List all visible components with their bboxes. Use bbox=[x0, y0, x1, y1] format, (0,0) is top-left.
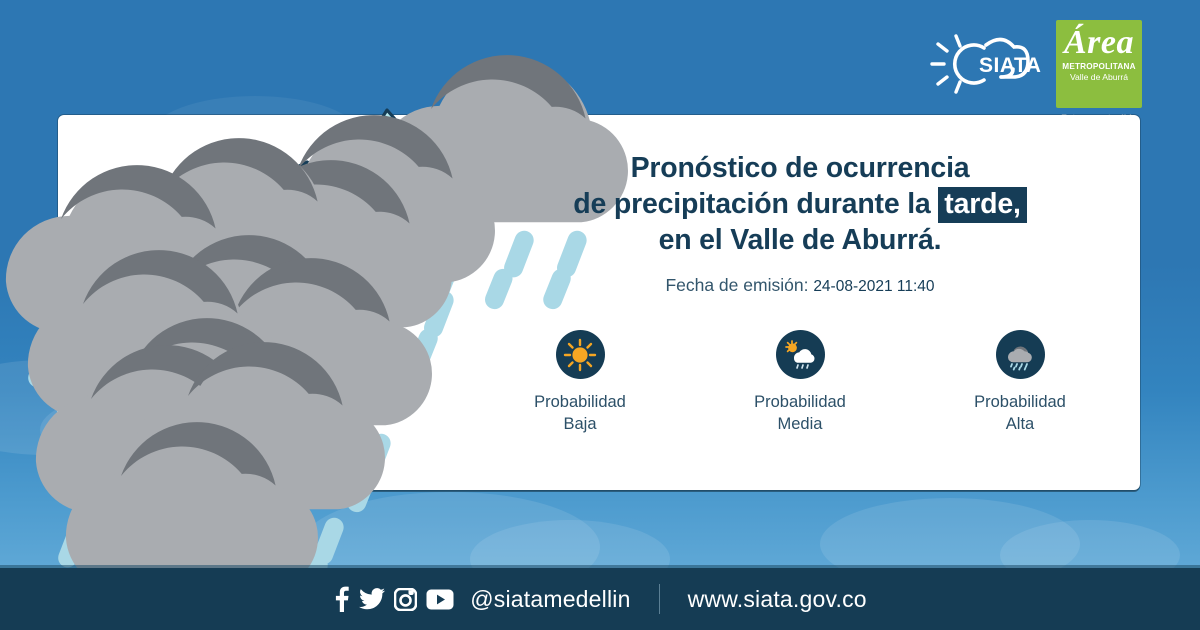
legend-label-baja: Probabilidad Baja bbox=[493, 391, 668, 435]
forecast-poster: SIATA Área METROPOLITANA Valle de Aburrá… bbox=[0, 0, 1200, 630]
footer-divider bbox=[659, 584, 660, 614]
title-line-2-text: de precipitación durante la bbox=[573, 188, 938, 220]
title-highlight: tarde, bbox=[938, 187, 1026, 223]
headline-block: Pronóstico de ocurrencia de precipitació… bbox=[470, 150, 1130, 296]
legend-baja-line1: Probabilidad bbox=[493, 391, 668, 413]
valle-de-aburra-map: N bbox=[55, 50, 415, 570]
sun-rain-cloud-icon bbox=[776, 330, 825, 379]
title-line-1: Pronóstico de ocurrencia bbox=[470, 150, 1130, 186]
website-url[interactable]: www.siata.gov.co bbox=[688, 586, 867, 613]
siata-logo-text: SIATA bbox=[979, 54, 1041, 77]
siata-logo: SIATA bbox=[922, 27, 1042, 101]
youtube-icon[interactable] bbox=[426, 589, 454, 610]
legend-item-alta: Probabilidad Alta bbox=[933, 330, 1108, 435]
amva-script: Área bbox=[1064, 24, 1134, 62]
twitter-icon[interactable] bbox=[359, 588, 385, 610]
legend-label-alta: Probabilidad Alta bbox=[933, 391, 1108, 435]
legend-media-line2: Media bbox=[713, 413, 888, 435]
issue-date-value: 24-08-2021 11:40 bbox=[813, 278, 934, 295]
map-marker-la-estrella bbox=[167, 486, 219, 538]
legend-item-media: Probabilidad Media bbox=[713, 330, 888, 435]
legend-item-baja: Probabilidad Baja bbox=[493, 330, 668, 435]
title-line-3: en el Valle de Aburrá. bbox=[470, 222, 1130, 258]
sun-icon bbox=[556, 330, 605, 379]
legend-label-media: Probabilidad Media bbox=[713, 391, 888, 435]
facebook-icon[interactable] bbox=[333, 586, 350, 612]
amva-line2: Valle de Aburrá bbox=[1070, 72, 1128, 82]
footer-bar: @siatamedellin www.siata.gov.co bbox=[0, 568, 1200, 630]
legend-alta-line2: Alta bbox=[933, 413, 1108, 435]
issue-date: Fecha de emisión: 24-08-2021 11:40 bbox=[470, 275, 1130, 296]
social-icons bbox=[333, 586, 454, 612]
instagram-icon[interactable] bbox=[394, 588, 417, 611]
title-line-2: de precipitación durante la tarde, bbox=[470, 186, 1130, 222]
amva-line1: METROPOLITANA bbox=[1062, 62, 1135, 72]
page-title: Pronóstico de ocurrencia de precipitació… bbox=[470, 150, 1130, 258]
rain-cloud-icon bbox=[996, 330, 1045, 379]
legend-baja-line2: Baja bbox=[493, 413, 668, 435]
legend-media-line1: Probabilidad bbox=[713, 391, 888, 413]
issue-date-label: Fecha de emisión: bbox=[665, 275, 808, 295]
legend-alta-line1: Probabilidad bbox=[933, 391, 1108, 413]
logo-group: SIATA Área METROPOLITANA Valle de Aburrá… bbox=[922, 20, 1142, 108]
probability-legend: Probabilidad Baja bbox=[470, 330, 1130, 435]
social-handle[interactable]: @siatamedellin bbox=[470, 586, 630, 613]
amva-logo: Área METROPOLITANA Valle de Aburrá Futur… bbox=[1056, 20, 1142, 108]
